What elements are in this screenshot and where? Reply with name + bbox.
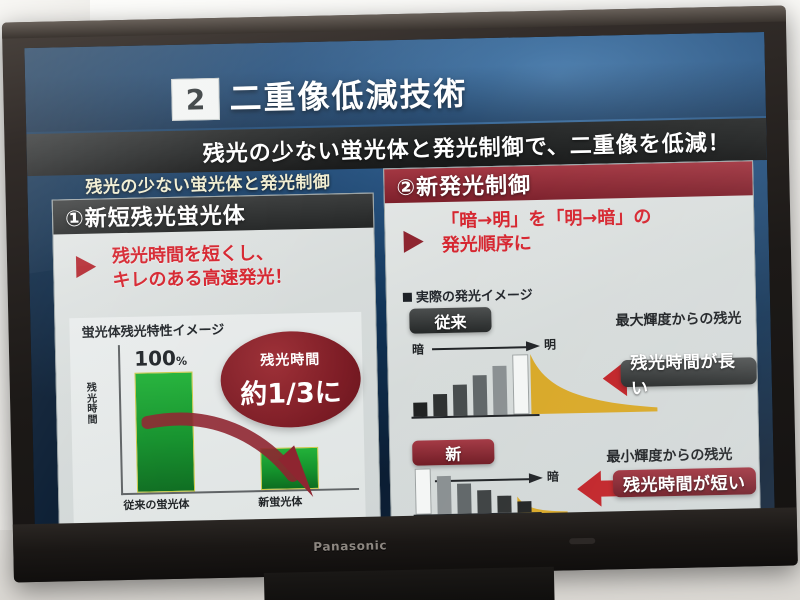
right-panel: ②新発光制御 「暗→明」を「明→暗」の 発光順序に 実際の発光イメージ 従来	[383, 160, 761, 536]
screenshot-root: 2 二重像低減技術 残光の少ない蛍光体と発光制御で、二重像を低減！ 残光の少ない…	[0, 0, 800, 600]
left-lead-line2: キレのある高速発光！	[112, 266, 292, 294]
chart-axis-conventional	[412, 414, 540, 419]
slide-title: 二重像低減技術	[229, 68, 468, 119]
section-title: 実際の発光イメージ	[403, 284, 533, 306]
chart-y-axis-label: 残光時間	[85, 384, 100, 426]
left-panel: ①新短残光蛍光体 残光時間を短くし、 キレのある高速発光！ 蛍光体残光特性イメー…	[52, 193, 381, 544]
bar-3	[453, 385, 468, 416]
bar-6	[517, 501, 531, 512]
tv-stand	[264, 567, 555, 600]
note-conventional: 最大輝度からの残光	[615, 308, 741, 331]
bullet-square-icon	[403, 293, 412, 302]
tag-new: 新	[412, 439, 495, 466]
pill-new: 残光時間が短い	[613, 467, 756, 497]
direction-line-conventional	[432, 346, 530, 350]
bar-3	[457, 483, 472, 513]
slide-number-box: 2	[171, 78, 220, 121]
left-panel-header: ①新短残光蛍光体	[53, 194, 374, 235]
right-panel-lead: 「暗→明」を「明→暗」の 発光順序に	[441, 205, 652, 258]
callout-main-text: 約1/3に	[240, 370, 342, 411]
bar-4	[473, 375, 488, 415]
right-panel-header: ②新発光制御	[384, 161, 753, 203]
television: 2 二重像低減技術 残光の少ない蛍光体と発光制御で、二重像を低減！ 残光の少ない…	[2, 6, 798, 598]
bar-6	[512, 354, 529, 414]
arrow-right-icon-2	[403, 230, 423, 252]
presentation-slide: 2 二重像低減技術 残光の少ない蛍光体と発光制御で、二重像を低減！ 残光の少ない…	[24, 32, 775, 548]
right-panel-body: ②新発光制御 「暗→明」を「明→暗」の 発光順序に 実際の発光イメージ 従来	[384, 161, 760, 535]
bar-4	[477, 490, 491, 513]
bar-5	[492, 366, 507, 415]
brand-logo: Panasonic	[313, 538, 387, 554]
left-panel-lead: 残光時間を短くし、 キレのある高速発光！	[112, 241, 293, 294]
note-new: 最小輝度からの残光	[606, 444, 732, 467]
left-panel-body: ①新短残光蛍光体 残光時間を短くし、 キレのある高速発光！ 蛍光体残光特性イメー…	[53, 194, 380, 543]
bar-5	[497, 496, 511, 513]
callout-top-text: 残光時間	[260, 348, 320, 369]
chart-conventional	[410, 354, 539, 419]
arrow-right-icon	[76, 256, 96, 278]
chart-new	[413, 466, 542, 517]
pill-conventional: 残光時間が長い	[620, 357, 757, 387]
bar-2	[433, 394, 447, 416]
bar-1	[415, 468, 432, 514]
right-lead-line2: 発光順序に	[442, 230, 653, 259]
arrow-head-icon-1	[526, 338, 542, 354]
bar-1	[413, 402, 427, 416]
bar-2	[437, 476, 452, 514]
right-lead-line1: 「暗→明」を「明→暗」の	[441, 205, 652, 234]
afterglow-chart: 蛍光体残光特性イメージ 残光時間 100%	[69, 312, 366, 528]
tag-conventional: 従来	[409, 307, 492, 334]
axis-end-conventional: 明	[544, 336, 556, 353]
ir-receiver	[569, 538, 595, 545]
axis-start-conventional: 暗	[412, 340, 424, 357]
tv-bezel: 2 二重像低減技術 残光の少ない蛍光体と発光制御で、二重像を低減！ 残光の少ない…	[2, 6, 798, 583]
chart-title: 蛍光体残光特性イメージ	[81, 319, 224, 341]
tv-screen: 2 二重像低減技術 残光の少ない蛍光体と発光制御で、二重像を低減！ 残光の少ない…	[24, 32, 775, 548]
